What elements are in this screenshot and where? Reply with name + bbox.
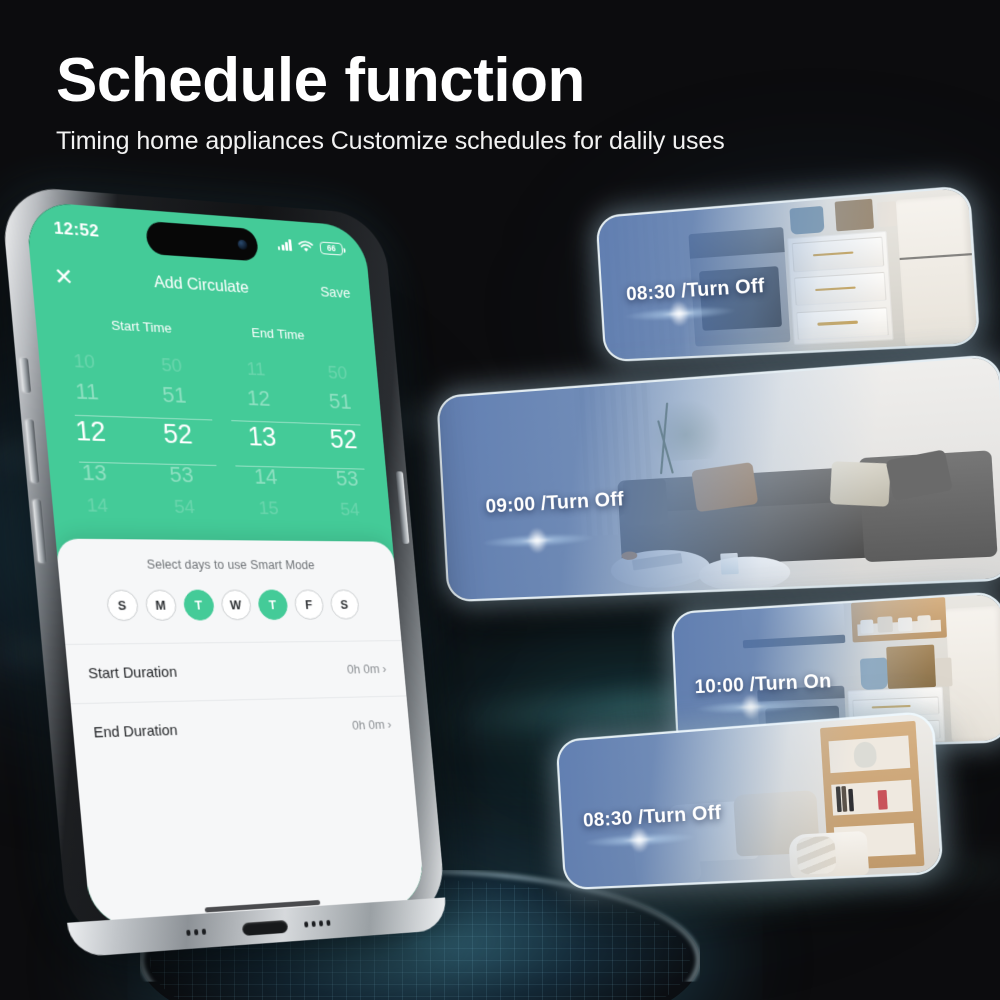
page-title: Schedule function <box>56 48 956 113</box>
day-wednesday[interactable]: W <box>220 590 252 621</box>
phone-screen: 12:52 66 ✕ Add <box>25 201 426 929</box>
picker-cell[interactable]: 53 <box>306 467 389 501</box>
day-friday[interactable]: F <box>293 590 324 620</box>
day-thursday[interactable]: T <box>257 590 289 621</box>
start-time-picker[interactable]: 10 11 12 13 14 50 51 52 53 54 <box>39 350 231 546</box>
cellular-signal-icon <box>277 238 292 251</box>
day-sunday[interactable]: S <box>105 590 139 621</box>
day-monday[interactable]: M <box>144 590 177 621</box>
picker-cell[interactable]: 14 <box>223 465 309 500</box>
start-duration-row[interactable]: Start Duration 0h 0m › <box>65 640 406 703</box>
schedule-scene-card-1[interactable]: 08:30 /Turn Off <box>598 188 978 360</box>
volume-down-button[interactable] <box>33 499 47 563</box>
picker-cell[interactable]: 12 <box>216 386 302 422</box>
time-picker[interactable]: 10 11 12 13 14 50 51 52 53 54 <box>39 350 393 547</box>
picker-cell[interactable]: 14 <box>52 496 143 526</box>
day-selector[interactable]: S M T W T F S <box>59 571 400 621</box>
end-duration-row[interactable]: End Duration 0h 0m › <box>71 695 412 762</box>
end-duration-label: End Duration <box>93 722 178 741</box>
picker-cell-selected[interactable]: 52 <box>133 417 223 465</box>
start-duration-label: Start Duration <box>88 664 178 682</box>
volume-up-button[interactable] <box>25 419 39 483</box>
page-title-app: Add Circulate <box>93 269 305 301</box>
day-saturday[interactable]: S <box>329 589 360 619</box>
header-block: Schedule function Timing home appliances… <box>56 48 956 156</box>
picker-cell-selected[interactable]: 13 <box>219 420 306 467</box>
power-button[interactable] <box>396 471 410 543</box>
phone-mockup: 12:52 66 ✕ Add <box>0 184 576 967</box>
end-minute-column[interactable]: 50 51 52 53 54 <box>296 362 393 547</box>
start-duration-value: 0h 0m <box>346 661 380 676</box>
day-tuesday[interactable]: T <box>182 590 215 621</box>
picker-cell[interactable]: 11 <box>41 379 133 417</box>
close-icon[interactable]: ✕ <box>53 264 95 290</box>
picker-cell-selected[interactable]: 52 <box>302 423 386 470</box>
battery-icon: 66 <box>319 241 343 255</box>
end-duration-value: 0h 0m <box>351 717 385 732</box>
smart-mode-label: Select days to use Smart Mode <box>56 539 396 573</box>
picker-cell[interactable]: 54 <box>140 497 228 526</box>
picker-cell-selected[interactable]: 12 <box>44 414 137 463</box>
picker-cell[interactable]: 51 <box>299 390 382 426</box>
battery-level: 66 <box>327 244 336 253</box>
front-camera-icon <box>237 239 247 249</box>
picker-cell[interactable]: 53 <box>137 463 226 499</box>
chevron-right-icon: › <box>382 661 387 675</box>
page-subtitle: Timing home appliances Customize schedul… <box>56 127 956 156</box>
save-button[interactable]: Save <box>304 284 351 302</box>
picker-cell[interactable]: 51 <box>130 383 219 420</box>
scene-artwork-kitchen-1 <box>598 188 978 360</box>
chevron-right-icon: › <box>387 717 392 731</box>
silent-switch[interactable] <box>20 358 31 393</box>
settings-sheet: Select days to use Smart Mode S M T W T … <box>56 539 426 930</box>
picker-cell[interactable]: 15 <box>226 499 311 528</box>
end-duration-value-group: 0h 0m › <box>351 717 391 733</box>
picker-cell[interactable]: 13 <box>49 461 141 497</box>
start-duration-value-group: 0h 0m › <box>346 661 386 676</box>
status-icons: 66 <box>277 238 343 255</box>
phone-body: 12:52 66 ✕ Add <box>0 185 447 946</box>
scene-artwork-bedroom <box>558 713 941 888</box>
picker-cell[interactable]: 54 <box>309 500 391 528</box>
schedule-scene-card-4[interactable]: 08:30 /Turn Off <box>558 713 941 888</box>
end-time-picker[interactable]: 11 12 13 14 15 50 51 52 53 54 <box>213 358 393 547</box>
status-time: 12:52 <box>53 218 100 241</box>
wifi-icon <box>297 239 314 253</box>
